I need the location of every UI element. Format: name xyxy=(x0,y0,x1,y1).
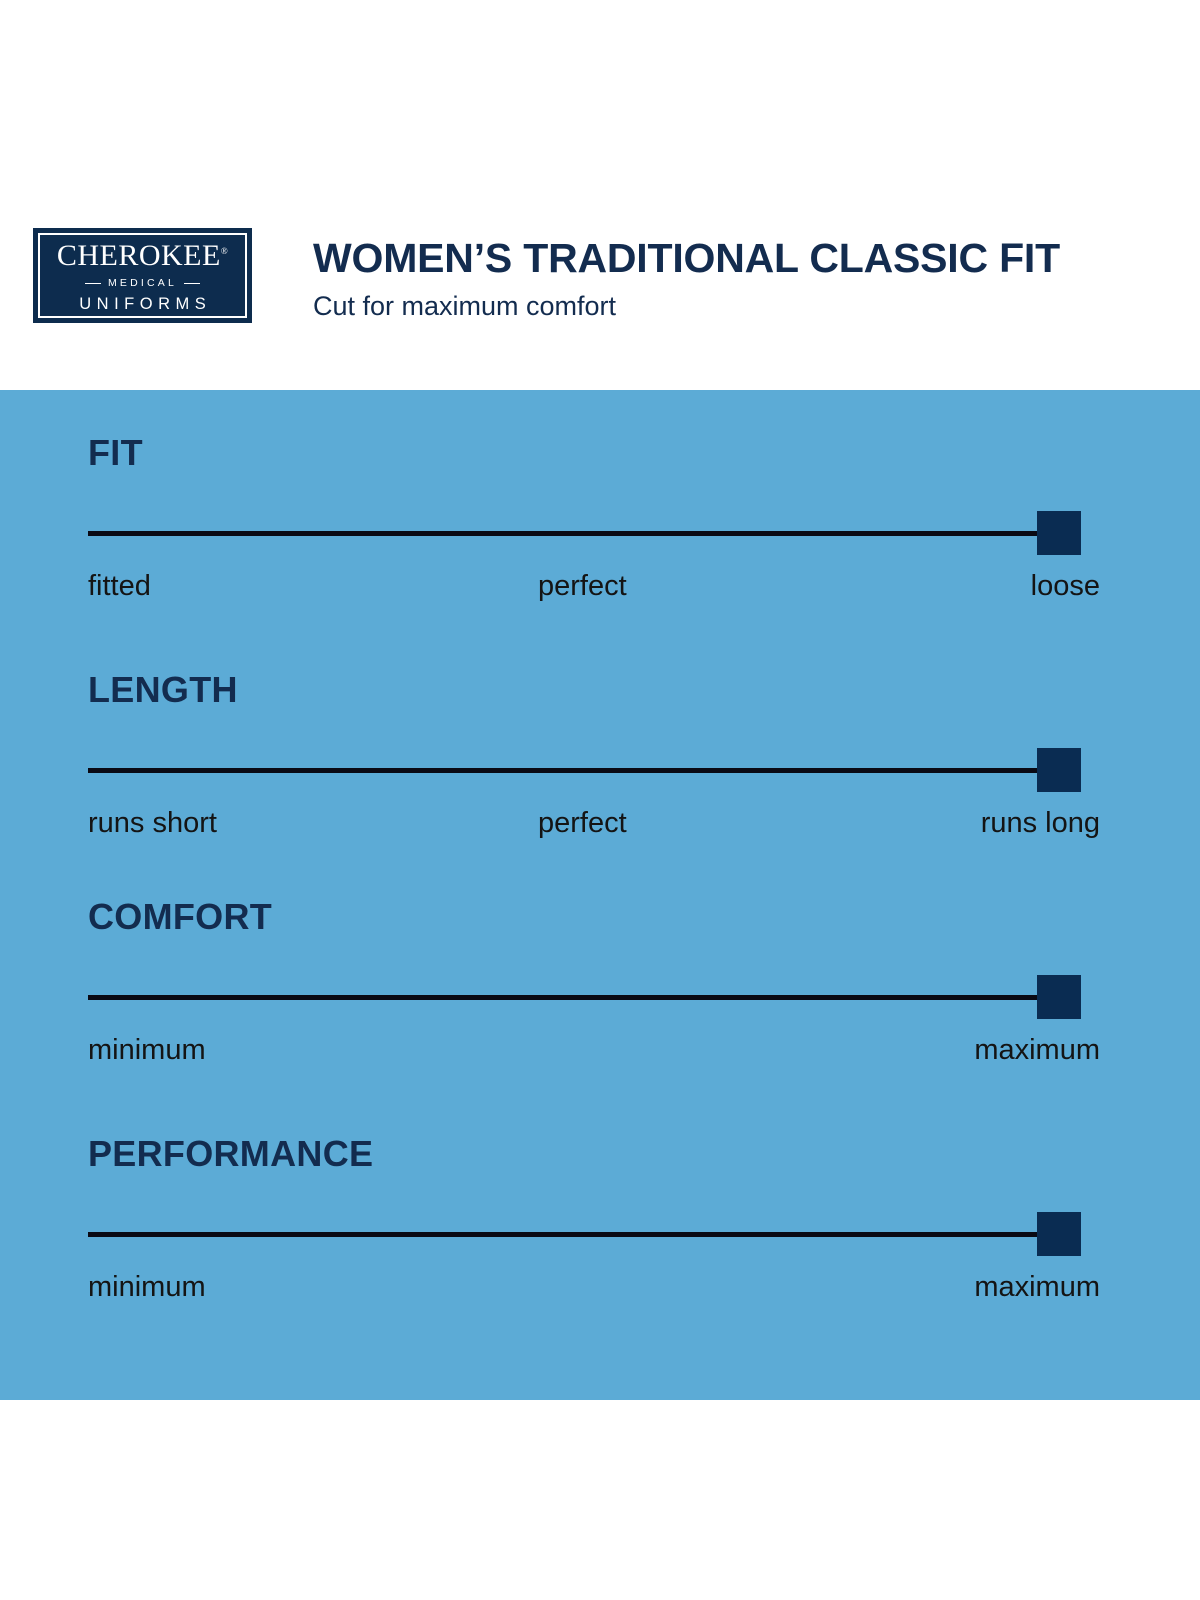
scale-heading-performance: PERFORMANCE xyxy=(88,1136,1088,1172)
slider-handle-comfort[interactable] xyxy=(1037,975,1081,1019)
scale-group-length: LENGTH runs short perfect runs long xyxy=(88,672,1088,842)
scale-label-length-left: runs short xyxy=(88,806,217,841)
brand-logo: CHEROKEE® MEDICAL UNIFORMS xyxy=(33,228,252,323)
scale-label-fit-center: perfect xyxy=(538,569,627,604)
title-block: WOMEN’S TRADITIONAL CLASSIC FIT Cut for … xyxy=(313,236,1060,322)
scale-label-fit-left: fitted xyxy=(88,569,151,604)
brand-logo-category: UNIFORMS xyxy=(74,296,212,313)
slider-handle-fit[interactable] xyxy=(1037,511,1081,555)
brand-logo-name-text: CHEROKEE xyxy=(57,239,221,272)
page-subtitle: Cut for maximum comfort xyxy=(313,292,1060,322)
slider-performance[interactable] xyxy=(88,1212,1088,1256)
scale-heading-length: LENGTH xyxy=(88,672,1088,708)
slider-comfort[interactable] xyxy=(88,975,1088,1019)
scale-label-length-right: runs long xyxy=(981,806,1100,841)
scale-group-comfort: COMFORT minimum maximum xyxy=(88,899,1088,1069)
slider-track-fit[interactable] xyxy=(88,531,1058,536)
brand-logo-frame: CHEROKEE® MEDICAL UNIFORMS xyxy=(38,233,247,318)
rule-left-icon xyxy=(85,283,101,285)
rule-right-icon xyxy=(184,283,200,285)
scale-label-performance-left: minimum xyxy=(88,1270,206,1305)
fit-scales-panel: FIT fitted perfect loose LENGTH runs sho… xyxy=(0,390,1200,1400)
scale-labels-length: runs short perfect runs long xyxy=(88,806,1088,842)
scale-label-fit-right: loose xyxy=(1031,569,1100,604)
page-header: CHEROKEE® MEDICAL UNIFORMS WOMEN’S TRADI… xyxy=(0,0,1200,390)
slider-track-comfort[interactable] xyxy=(88,995,1058,1000)
brand-logo-tagline: MEDICAL xyxy=(85,278,200,289)
slider-length[interactable] xyxy=(88,748,1088,792)
scale-label-length-center: perfect xyxy=(538,806,627,841)
slider-track-length[interactable] xyxy=(88,768,1058,773)
scale-heading-comfort: COMFORT xyxy=(88,899,1088,935)
slider-track-performance[interactable] xyxy=(88,1232,1058,1237)
scale-heading-fit: FIT xyxy=(88,435,1088,471)
slider-handle-performance[interactable] xyxy=(1037,1212,1081,1256)
brand-logo-tagline-text: MEDICAL xyxy=(108,278,177,289)
scale-labels-performance: minimum maximum xyxy=(88,1270,1088,1306)
scale-labels-comfort: minimum maximum xyxy=(88,1033,1088,1069)
brand-logo-name: CHEROKEE® xyxy=(57,241,228,271)
registered-trademark-icon: ® xyxy=(221,246,228,256)
scale-label-comfort-right: maximum xyxy=(974,1033,1100,1068)
scale-label-performance-right: maximum xyxy=(974,1270,1100,1305)
page-title: WOMEN’S TRADITIONAL CLASSIC FIT xyxy=(313,236,1060,280)
scale-group-fit: FIT fitted perfect loose xyxy=(88,435,1088,605)
scale-labels-fit: fitted perfect loose xyxy=(88,569,1088,605)
scale-group-performance: PERFORMANCE minimum maximum xyxy=(88,1136,1088,1306)
slider-fit[interactable] xyxy=(88,511,1088,555)
scale-label-comfort-left: minimum xyxy=(88,1033,206,1068)
fit-guide-page: CHEROKEE® MEDICAL UNIFORMS WOMEN’S TRADI… xyxy=(0,0,1200,1600)
slider-handle-length[interactable] xyxy=(1037,748,1081,792)
